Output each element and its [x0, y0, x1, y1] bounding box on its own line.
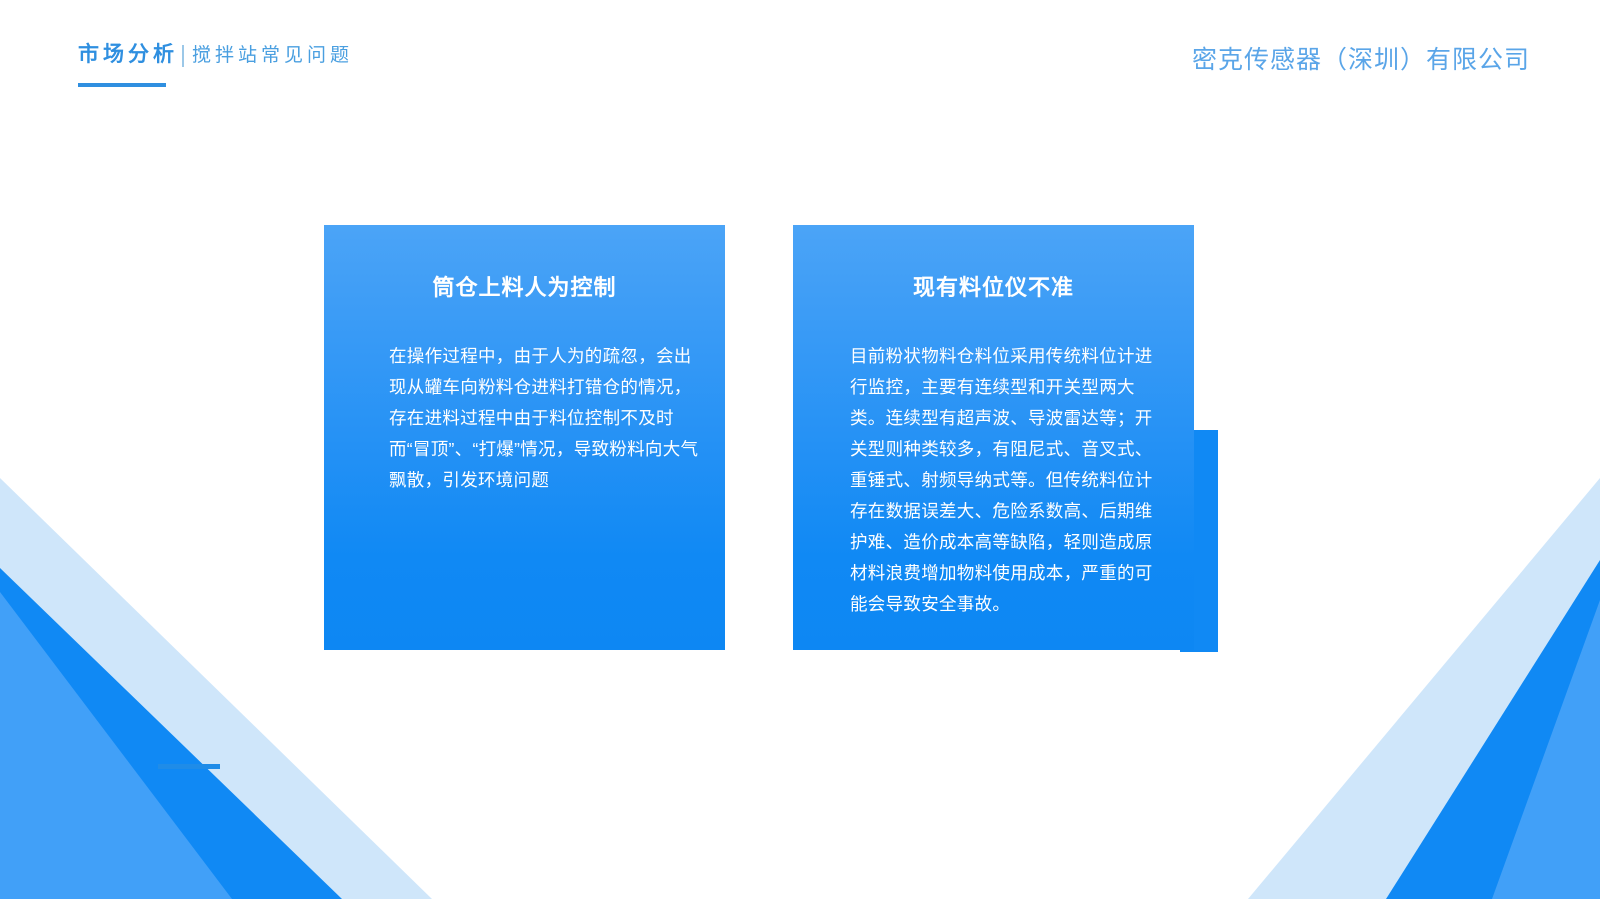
decor-right-pale-band: [1248, 478, 1600, 899]
title-divider: [182, 45, 184, 67]
bottom-accent-line: [158, 764, 220, 769]
decor-left-mid-band: [0, 568, 342, 899]
slide-header: 市场分析 搅拌站常见问题 密克传感器（深圳）有限公司: [0, 0, 1600, 110]
decor-left-edge-band: [0, 636, 118, 899]
content-card-1: 筒仓上料人为控制 在操作过程中，由于人为的疏忽，会出现从罐车向粉料仓进料打错仓的…: [324, 225, 725, 650]
slide-root: 市场分析 搅拌站常见问题 密克传感器（深圳）有限公司 筒仓上料人为控制 在操作过…: [0, 0, 1600, 899]
card-2-body: 目前粉状物料仓料位采用传统料位计进行监控，主要有连续型和开关型两大类。连续型有超…: [817, 341, 1170, 620]
page-title-sub: 搅拌站常见问题: [192, 46, 353, 65]
card-2-title: 现有料位仪不准: [817, 275, 1170, 301]
decor-left-light-band: [0, 592, 232, 899]
decor-right-mid-band: [1386, 560, 1600, 899]
title-underline: [78, 83, 166, 87]
page-title-main: 市场分析: [78, 44, 178, 65]
decor-right-light-band: [1492, 600, 1600, 899]
company-name: 密克传感器（深圳）有限公司: [1192, 40, 1530, 76]
card-1-body: 在操作过程中，由于人为的疏忽，会出现从罐车向粉料仓进料打错仓的情况，存在进料过程…: [348, 341, 701, 496]
card-1-title: 筒仓上料人为控制: [348, 275, 701, 301]
content-card-2: 现有料位仪不准 目前粉状物料仓料位采用传统料位计进行监控，主要有连续型和开关型两…: [793, 225, 1194, 650]
page-title: 市场分析 搅拌站常见问题: [78, 44, 353, 66]
